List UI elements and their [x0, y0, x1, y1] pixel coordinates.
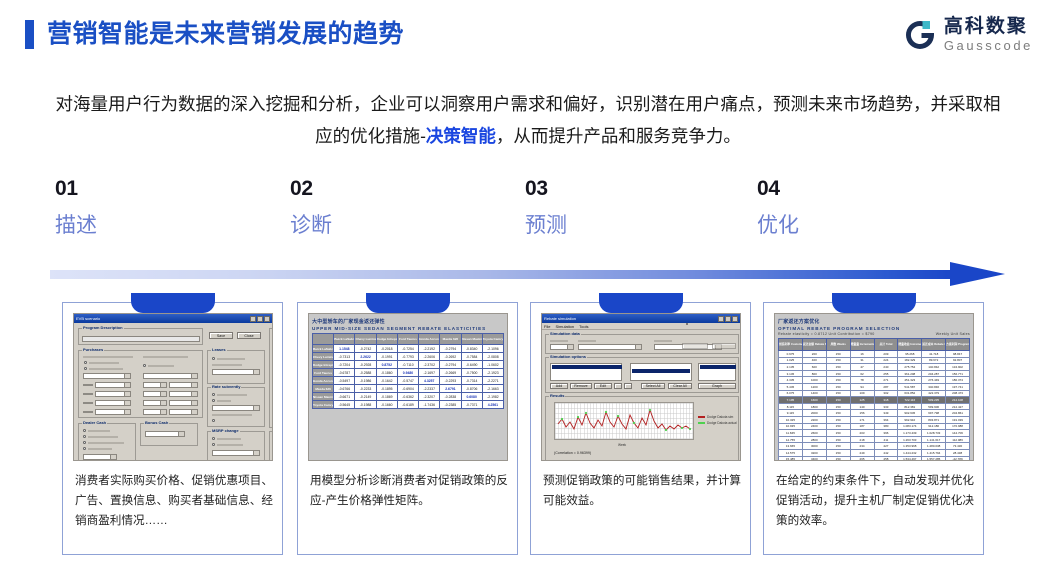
table-cell: -0.5645 [334, 401, 355, 409]
group-bonus-cash: Bonus Cash [140, 423, 198, 446]
legend-item-sim: Dodge Dakota sim [698, 415, 733, 419]
table-cell: -0.6904 [397, 385, 418, 393]
table-cell: -0.1860 [376, 369, 397, 377]
table-cell: -0.2588 [355, 369, 376, 377]
table-cell: 992.910 [898, 416, 922, 423]
group-leases: Leases [207, 350, 265, 384]
table-cell: 150 [826, 364, 850, 371]
elasticity-matrix: Buick LaSabreChevy LuminaDodge IntrepidF… [312, 333, 504, 409]
table-cell: -0.2385 [440, 401, 461, 409]
minimize-icon [718, 316, 724, 322]
table-row: Toyota Camry-0.5645-0.1988-0.1660-0.6189… [313, 401, 504, 409]
table-column-header: Toyota Camry [482, 334, 503, 345]
table-cell: 2800 [802, 436, 826, 443]
window-controls [250, 316, 270, 322]
term-24-combo[interactable] [95, 382, 131, 388]
term-36-combo[interactable] [95, 391, 131, 397]
table-header-row: 创造利率 Customer Price返还金额 Rebate $周数 Weeks… [779, 339, 970, 351]
table-cell: 156 [850, 410, 874, 417]
table-cell: 1200 [802, 383, 826, 390]
table-cell: 509.235 [922, 397, 946, 404]
table-cell: -2.1923 [482, 369, 503, 377]
table-cell: 9.115 [779, 410, 803, 417]
table-cell: 2.2622 [355, 353, 376, 361]
table-subtitle: Rebate elasticity = 0.8712 Unit Contribu… [778, 332, 970, 336]
radio-all-cash[interactable] [83, 441, 86, 444]
rate-combo[interactable] [212, 405, 260, 411]
radio-rebate-cash-fin[interactable] [83, 435, 86, 438]
table-cell: 265 [850, 456, 874, 461]
table-subtitle-right: Weekly Unit Sales [936, 332, 970, 336]
table-column-header: 方案利润 Program Profit [946, 339, 970, 351]
table-cell: -0.5747 [397, 377, 418, 385]
table-cell: 1000 [802, 377, 826, 384]
table-cell: 422.379 [922, 390, 946, 397]
table-cell: 1.415.794 [922, 449, 946, 456]
legend-item-actual: Dodge Dakota actual [698, 421, 737, 425]
table-cell: 400 [802, 357, 826, 364]
logo-english-name: Gausscode [944, 38, 1033, 54]
table-cell: -0.5497 [334, 377, 355, 385]
menu-simulation[interactable]: Simulation [555, 324, 574, 329]
table-cell: 427 [874, 443, 898, 450]
correlation-label: (Correlation = 0.96399) [554, 451, 591, 455]
group-purchases: Purchases [78, 350, 203, 418]
table-cell: 150 [826, 449, 850, 456]
table-cell: 208.473 [946, 390, 970, 397]
group-label: Results [549, 393, 565, 398]
table-cell: -2.2606 [419, 353, 440, 361]
chart-xlabel: Week [618, 443, 626, 447]
table-cell: 2600 [802, 430, 826, 437]
table-cell: -0.2928 [355, 361, 376, 369]
table-cell: 212.108 [946, 397, 970, 404]
table-column-header: 返还成本 Rebate Cost [922, 339, 946, 351]
step-label: 预测 [525, 215, 567, 236]
model-type-combo[interactable] [550, 344, 574, 350]
table-cell: 0.6080 [461, 393, 482, 401]
radio-msrp-percent[interactable] [212, 443, 215, 446]
term-36-type[interactable] [169, 391, 198, 397]
table-cell: 1400 [802, 390, 826, 397]
simulation-chart [554, 402, 694, 440]
card-predict[interactable]: Rebate simulation File Simulation Tools … [530, 302, 751, 555]
table-cell: 240 [874, 364, 898, 371]
scenario-listbox[interactable] [550, 363, 622, 381]
save-sim-button[interactable] [712, 343, 736, 349]
table-cell: 150 [826, 423, 850, 430]
table-cell: 200 [802, 351, 826, 358]
table-cell: 170.988 [946, 423, 970, 430]
table-row: Chevy Lumina-0.73132.2622-0.1991-0.7793-… [313, 353, 504, 361]
table-column-header: 创造利率 Customer Price [779, 339, 803, 351]
table-cell: 218 [850, 436, 874, 443]
rebate-amount-combo[interactable] [83, 373, 131, 379]
radio-no-rebate[interactable] [84, 361, 87, 364]
table-title-en: UPPER MID-SIZE SEDAN SEGMENT REBATE ELAS… [312, 326, 504, 331]
table-cell: 197.741 [946, 383, 970, 390]
table-cell: 287 [874, 383, 898, 390]
clear-all-button[interactable]: Clear All [668, 383, 692, 389]
window-controls [718, 316, 738, 322]
table-cell: 89.672 [922, 357, 946, 364]
table-row-header: Chevy Lumina [313, 353, 334, 361]
table-cell: -0.7313 [334, 353, 355, 361]
group-base-incentives: Base incentives Select All Clear All [269, 328, 273, 428]
term-60-combo[interactable] [95, 409, 131, 415]
term-48-type[interactable] [169, 400, 198, 406]
radio-money-factor[interactable] [212, 393, 215, 396]
table-cell: 73.430 [946, 443, 970, 450]
add-button[interactable]: Add [550, 383, 568, 389]
table-cell: -0.7314 [461, 377, 482, 385]
table-cell: -22.789 [946, 456, 970, 461]
card-tab-marker [832, 293, 916, 313]
table-cell: -0.2742 [355, 345, 376, 353]
table-cell: 15.485 [779, 456, 803, 461]
table-cell: 912.186 [922, 423, 946, 430]
table-cell: 150 [826, 351, 850, 358]
table-cell: 1.173.439 [898, 430, 922, 437]
table-cell: 150 [826, 416, 850, 423]
table-cell: 78 [850, 377, 874, 384]
term-48-combo[interactable] [95, 400, 131, 406]
term-48-rate[interactable] [143, 400, 167, 406]
table-cell: 1800 [802, 403, 826, 410]
table-cell: -1.7436 [419, 401, 440, 409]
window-title: Rebate simulation [544, 316, 576, 321]
table-cell: -0.7793 [397, 353, 418, 361]
table-body: Buick LaSabre1.1548-0.2742-0.2018-0.7254… [313, 345, 504, 409]
logo-mark-icon [903, 18, 937, 52]
bonus-cash-combo[interactable] [145, 431, 185, 437]
table-column-header: 增量量 Incremental [850, 339, 874, 351]
radio-lease-only[interactable] [83, 447, 86, 450]
logo-chinese-name: 高科数聚 [944, 17, 1033, 37]
arrow-shaft [50, 270, 955, 279]
table-cell: -0.6766 [334, 385, 355, 393]
table-cell: 10.935 [779, 423, 803, 430]
table-cell: 361.208 [898, 370, 922, 377]
table-cell: 156.771 [946, 370, 970, 377]
get-data-button[interactable] [682, 343, 708, 349]
table-column-header: Dodge Intrepid [376, 334, 397, 345]
table-cell: 109 [850, 390, 874, 397]
table-cell: -0.7204 [334, 361, 355, 369]
chart-series [555, 403, 695, 441]
group-dealer-cash: Dealer Cash [78, 423, 136, 461]
table-row-header: Mazda 626 [313, 385, 334, 393]
table-cell: 150 [826, 430, 850, 437]
table-cell: -0.2838 [440, 393, 461, 401]
table-cell: 631.852 [898, 390, 922, 397]
group-label: Bonus Cash [144, 420, 169, 425]
term-60-rate[interactable] [143, 409, 167, 415]
table-row: 2.13560015047240275.754140.842134.902 [779, 364, 970, 371]
table-column-header: Honda Accord [419, 334, 440, 345]
table-row: 9.1152000150156349902.645697.798204.861 [779, 410, 970, 417]
table-row: 10.93524001501873801.083.174912.186170.9… [779, 423, 970, 430]
table-cell: 191.039 [946, 416, 970, 423]
table-row: 5.445120015094287541.587340.846197.741 [779, 383, 970, 390]
table-cell: 812.381 [898, 403, 922, 410]
group-label: Purchases [82, 347, 104, 352]
table-cell: -2.2192 [419, 345, 440, 353]
menu-file[interactable]: File [544, 324, 550, 329]
table-cell: 92.807 [946, 357, 970, 364]
card-optimize[interactable]: 厂家返还方案优化 OPTIMAL REBATE PROGRAM SELECTIO… [763, 302, 984, 555]
group-label: Leases [211, 347, 227, 352]
table-cell: 150 [826, 357, 850, 364]
table-cell: 2200 [802, 416, 826, 423]
table-cell: -2.1697 [419, 369, 440, 377]
table-cell: -0.6671 [334, 393, 355, 401]
radio-not-offered[interactable] [143, 364, 146, 367]
table-cell: 10.325 [779, 416, 803, 423]
table-cell: 12.755 [779, 436, 803, 443]
group-simulation-data: Simulation data [545, 334, 739, 354]
table-cell: 599.906 [922, 403, 946, 410]
table-cell: 4.2561 [482, 401, 503, 409]
table-cell: 95.268 [898, 351, 922, 358]
window-titlebar: Rebate simulation [542, 314, 740, 323]
maximize-icon [257, 316, 263, 322]
step-04: 04 优化 [757, 178, 799, 236]
table-cell: 13.665 [779, 443, 803, 450]
table-cell: 1.557.285 [922, 456, 946, 461]
table-cell: -2.1096 [482, 345, 503, 353]
table-row: Ford Taurus-0.6787-0.2588-0.18600.9480-2… [313, 369, 504, 377]
remove-button[interactable]: Remove [570, 383, 592, 389]
table-row-header: Toyota Camry [313, 401, 334, 409]
graph-button[interactable]: Graph [698, 383, 736, 389]
step-row: 01 描述 02 诊断 03 预测 04 优化 [0, 178, 1051, 250]
window-titlebar: EVB scenario [74, 314, 272, 323]
elasticity-table-shot: 大中型轿车的厂家现金返还弹性 UPPER MID-SIZE SEDAN SEGM… [309, 314, 507, 460]
table-cell: 47 [850, 364, 874, 371]
table-cell: 3000 [802, 443, 826, 450]
outputs-listbox[interactable] [698, 363, 736, 381]
table-cell: 150 [826, 377, 850, 384]
move-up-button[interactable] [614, 383, 622, 389]
table-cell: -0.6189 [397, 401, 418, 409]
outputs-selected [700, 365, 736, 369]
group-rebase-incentives: Rebase incentives Clear Restore current … [269, 431, 273, 461]
card-screenshot-simulation: Rebate simulation File Simulation Tools … [541, 313, 741, 461]
radio-no-subventy[interactable] [212, 357, 215, 360]
table-cell: -0.2293 [440, 377, 461, 385]
table-column-header: Ford Taurus [397, 334, 418, 345]
table-cell: -0.8340 [461, 345, 482, 353]
table-cell: 16 [850, 351, 874, 358]
table-cell: 271 [874, 377, 898, 384]
table-cell: 458 [874, 456, 898, 461]
table-title-cn: 厂家返还方案优化 [778, 318, 970, 325]
term-24-rate[interactable] [143, 382, 167, 388]
close-button[interactable]: Close [237, 332, 261, 339]
card-tab-marker [599, 293, 683, 313]
table-cell: 249 [850, 449, 874, 456]
table-row-header: Nissan Maxima [313, 393, 334, 401]
table-cell: 2400 [802, 423, 826, 430]
select-all-button[interactable]: Select All [641, 383, 665, 389]
group-msrp-change: MSRP change [207, 431, 265, 461]
table-row: 6.0751400150109302631.852422.379208.473 [779, 390, 970, 397]
table-cell: 1.444.232 [898, 449, 922, 456]
table-title-cn: 大中型轿车的厂家现金返还弹性 [312, 318, 504, 325]
table-cell: 150 [826, 397, 850, 404]
apr-combo[interactable] [143, 373, 198, 379]
program-description-input[interactable] [82, 336, 200, 342]
table-cell: 224 [874, 357, 898, 364]
table-cell: -0.1988 [355, 401, 376, 409]
legend-swatch-sim [698, 416, 705, 418]
table-cell: -0.2794 [440, 345, 461, 353]
table-cell: 180.374 [946, 377, 970, 384]
table-cell: 144.706 [946, 430, 970, 437]
table-cell: 94 [850, 383, 874, 390]
step-02: 02 诊断 [290, 178, 332, 236]
table-cell: 1.141.617 [922, 436, 946, 443]
table-cell: -0.7584 [461, 353, 482, 361]
table-cell: 541.587 [898, 383, 922, 390]
step-number: 02 [290, 178, 332, 199]
table-title-en: OPTIMAL REBATE PROGRAM SELECTION [778, 326, 970, 331]
table-row: Dodge Intrepid-0.7204-0.29280.8752-0.711… [313, 361, 504, 369]
models-listbox[interactable] [630, 363, 692, 381]
table-row: 8.1151800150140333812.381599.906212.427 [779, 403, 970, 410]
arrow-head-icon [950, 262, 1005, 286]
step-label: 诊断 [290, 215, 332, 236]
table-row: 14.57532001502494421.444.2321.415.79428.… [779, 449, 970, 456]
card-row: EVB scenario Program Description Save Cl… [0, 292, 1051, 557]
group-label: MSRP change [211, 428, 240, 433]
msrp-combo[interactable] [212, 450, 260, 456]
table-cell: 1.083.174 [898, 423, 922, 430]
table-cell: 14.575 [779, 449, 803, 456]
card-caption: 消费者实际购买价格、促销优惠项目、广告、置换信息、购买者基础信息、经销商盈利情况… [75, 471, 273, 531]
table-cell: -0.1895 [376, 385, 397, 393]
card-screenshot-form-dialog: EVB scenario Program Description Save Cl… [73, 313, 273, 461]
radio-no-apr[interactable] [84, 367, 87, 370]
radio-apr[interactable] [212, 399, 215, 402]
card-diagnose[interactable]: 大中型轿车的厂家现金返还弹性 UPPER MID-SIZE SEDAN SEGM… [297, 302, 518, 555]
table-cell: 411 [874, 436, 898, 443]
table-cell: -0.7500 [461, 369, 482, 377]
legend-swatch-actual [698, 422, 705, 424]
table-cell: 0.9480 [397, 369, 418, 377]
brand-logo: 高科数聚 Gausscode [903, 17, 1033, 54]
table-cell: -0.6490 [461, 361, 482, 369]
table-cell: 150 [826, 370, 850, 377]
table-cell: -0.6787 [334, 369, 355, 377]
save-button[interactable]: Save [209, 332, 233, 339]
table-cell: 451.323 [898, 377, 922, 384]
dealer-cash-combo[interactable] [83, 454, 117, 460]
table-cell: 203 [850, 430, 874, 437]
table-cell: -0.7110 [397, 361, 418, 369]
table-cell: 150 [826, 390, 850, 397]
table-column-header: 周数 Weeks [826, 339, 850, 351]
table-cell: 2.135 [779, 364, 803, 371]
table-row-header: Buick LaSabre [313, 345, 334, 353]
term-60-type[interactable] [169, 409, 198, 415]
table-cell: 600 [802, 364, 826, 371]
table-cell: -0.7254 [397, 345, 418, 353]
table-cell: 1.280.038 [922, 443, 946, 450]
table-cell: 0.975 [779, 351, 803, 358]
table-cell: -2.3702 [419, 361, 440, 369]
table-cell: 234 [850, 443, 874, 450]
menu-tools[interactable]: Tools [579, 324, 588, 329]
corner-cell [313, 334, 334, 345]
table-cell: 171 [850, 416, 874, 423]
table-column-header: Nissan Maxima [461, 334, 482, 345]
page-title-wrap: 营销智能是未来营销发展的趋势 [25, 20, 404, 49]
term-24-type[interactable] [169, 382, 198, 388]
table-cell: 318 [874, 397, 898, 404]
step-number: 03 [525, 178, 567, 199]
lease-cash-combo[interactable] [212, 369, 260, 375]
table-cell: 442 [874, 449, 898, 456]
table-cell: 41.718 [922, 351, 946, 358]
table-cell: -2.1663 [482, 385, 503, 393]
group-label: Simulation options [549, 354, 587, 359]
card-caption: 在给定的约束条件下，自动发现并优化促销活动，提升主机厂制定促销优化决策的效率。 [776, 471, 974, 531]
table-cell: 31 [850, 357, 874, 364]
table-cell: 396 [874, 430, 898, 437]
table-cell: 11.845 [779, 430, 803, 437]
window-body: Program Description Save Close Purchases [74, 323, 272, 461]
table-cell: 150 [826, 410, 850, 417]
legend-label-actual: Dodge Dakota actual [707, 421, 737, 425]
group-label: Simulation data [549, 331, 581, 336]
table-cell: 1.534.497 [898, 456, 922, 461]
table-cell: 902.645 [898, 410, 922, 417]
table-cell: 800 [802, 370, 826, 377]
segment-combo[interactable] [578, 344, 642, 350]
card-describe[interactable]: EVB scenario Program Description Save Cl… [62, 302, 283, 555]
group-results: Results [545, 396, 739, 461]
card-screenshot-optimization-table: 厂家返还方案优化 OPTIMAL REBATE PROGRAM SELECTIO… [774, 313, 974, 461]
table-cell: 697.798 [922, 410, 946, 417]
window-menubar[interactable]: File Simulation Tools [542, 323, 740, 330]
card-screenshot-elasticity-table: 大中型轿车的厂家现金返还弹性 UPPER MID-SIZE SEDAN SEGM… [308, 313, 508, 461]
intro-paragraph-part2: ，从而提升产品和服务竞争力。 [496, 126, 741, 146]
table-cell: -2.2271 [482, 377, 503, 385]
term-36-rate[interactable] [143, 391, 167, 397]
table-cell: 187 [850, 423, 874, 430]
table-subtitle-left: Rebate elasticity = 0.8712 Unit Contribu… [778, 332, 875, 336]
table-cell: 722.116 [898, 397, 922, 404]
table-cell: 302 [874, 390, 898, 397]
table-cell: -0.2794 [440, 361, 461, 369]
edit-button[interactable]: Edit [594, 383, 612, 389]
radio-msrp-amount[interactable] [212, 437, 215, 440]
minimize-icon [250, 316, 256, 322]
optimization-matrix: 创造利率 Customer Price返还金额 Rebate $周数 Weeks… [778, 338, 970, 461]
radio-cash-only[interactable] [83, 429, 86, 432]
table-row: 11.84526001502033961.173.4391.028.733144… [779, 430, 970, 437]
table-cell: -0.1869 [376, 393, 397, 401]
card-tab-marker [131, 293, 215, 313]
radio-amount[interactable] [212, 419, 215, 422]
table-row: Nissan Maxima-0.6671-0.2149-0.1869-0.636… [313, 393, 504, 401]
table-cell: 204.861 [946, 410, 970, 417]
table-cell: -0.1660 [376, 401, 397, 409]
table-row: Honda Accord-0.5497-0.1986-0.1642-0.5747… [313, 377, 504, 385]
move-down-button[interactable] [624, 383, 632, 389]
